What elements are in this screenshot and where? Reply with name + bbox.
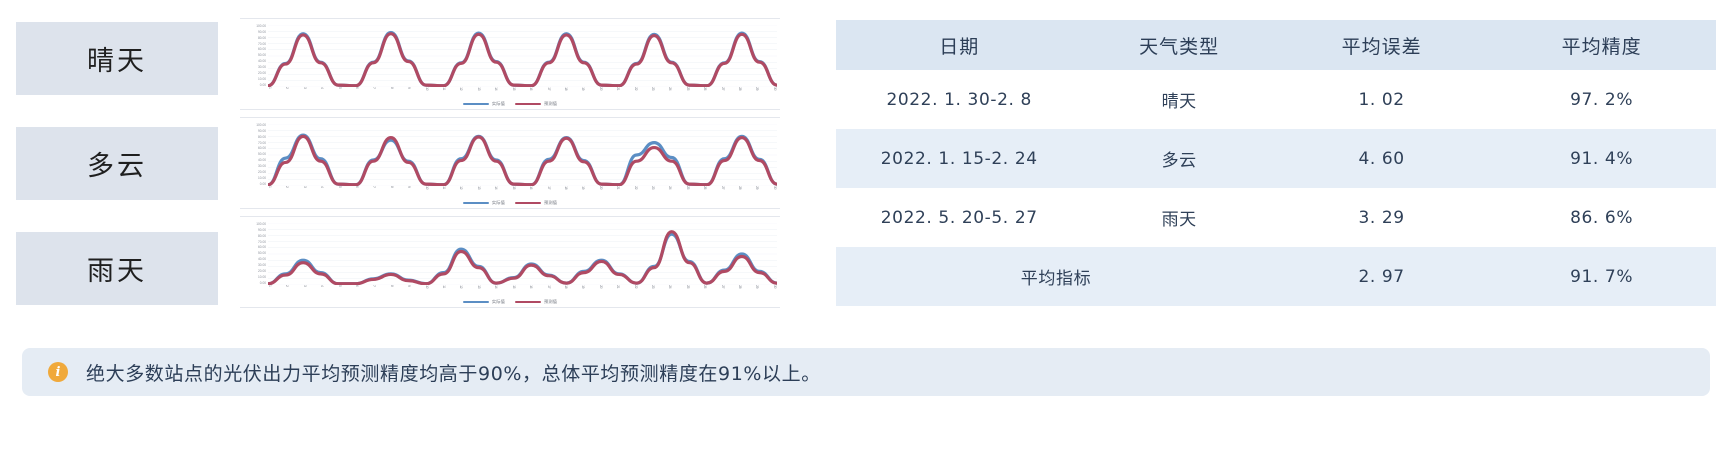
x-axis-tick-label: 21 (616, 285, 620, 288)
x-axis-tick-label: 5 (338, 186, 342, 188)
weather-chip-cloudy[interactable]: 多云 (16, 127, 218, 200)
x-axis-tick-label: 16 (529, 285, 533, 288)
x-axis-tick-label: 29 (755, 186, 759, 189)
legend-item-forecast: 预测值 (515, 299, 557, 305)
legend-item-actual: 实际值 (463, 299, 505, 305)
report-panel: 晴天 多云 雨天 100.0090.0080.0070.0060.0050.00… (0, 0, 1731, 463)
y-axis-tick-label: 90.00 (258, 31, 266, 34)
x-axis-tick-label: 14 (494, 186, 498, 189)
info-note-text: 绝大多数站点的光伏出力平均预测精度均高于90%，总体平均预测精度在91%以上。 (86, 359, 821, 386)
x-axis-tick-label: 5 (338, 285, 342, 287)
x-axis-tick-label: 8 (390, 87, 394, 89)
x-axis-tick-label: 18 (564, 186, 568, 189)
info-icon: i (48, 362, 68, 382)
x-axis-tick-label: 25 (686, 285, 690, 288)
x-axis-tick-label: 19 (581, 285, 585, 288)
x-axis-tick-label: 25 (686, 87, 690, 90)
weather-chip-label: 雨天 (87, 249, 147, 288)
x-axis-tick-label: 15 (512, 87, 516, 90)
x-axis-tick-label: 28 (738, 87, 742, 90)
x-axis-tick-label: 24 (668, 87, 672, 90)
table-row[interactable]: 2022. 5. 20-5. 27 雨天 3. 29 86. 6% (836, 188, 1716, 247)
y-axis-tick-label: 30.00 (258, 165, 266, 168)
y-axis-tick-label: 60.00 (258, 48, 266, 51)
x-axis-tick-label: 9 (407, 285, 411, 287)
x-axis-tick-label: 1 (268, 285, 272, 287)
x-axis-tick-label: 26 (703, 186, 707, 189)
x-axis-tick-label: 7 (373, 87, 377, 89)
cloudy-chart[interactable]: 100.0090.0080.0070.0060.0050.0040.0030.0… (240, 117, 780, 209)
x-axis-tick-label: 2 (286, 285, 290, 287)
x-axis-tick-label: 19 (581, 186, 585, 189)
x-axis-tick-label: 19 (581, 87, 585, 90)
legend-item-forecast: 预测值 (515, 200, 557, 206)
x-axis-tick-label: 18 (564, 87, 568, 90)
cell-type: 晴天 (1082, 70, 1276, 129)
x-axis-tick-label: 12 (460, 87, 464, 90)
cell-accuracy: 97. 2% (1487, 70, 1716, 129)
x-axis-tick-label: 17 (547, 87, 551, 90)
x-axis-tick-label: 15 (512, 186, 516, 189)
y-axis-tick-label: 50.00 (258, 54, 266, 57)
y-axis-tick-label: 20.00 (258, 270, 266, 273)
x-axis-tick-label: 16 (529, 186, 533, 189)
x-axis-tick-label: 27 (721, 87, 725, 90)
x-axis-tick-label: 6 (355, 186, 359, 188)
cell-accuracy: 91. 4% (1487, 129, 1716, 188)
x-axis-tick-label: 23 (651, 285, 655, 288)
column-header-type[interactable]: 天气类型 (1082, 20, 1276, 70)
cell-accuracy: 86. 6% (1487, 188, 1716, 247)
y-axis-tick-label: 10.00 (258, 78, 266, 81)
metrics-table: 日期 天气类型 平均误差 平均精度 2022. 1. 30-2. 8 晴天 1.… (836, 20, 1716, 306)
y-axis-tick-label: 30.00 (258, 66, 266, 69)
x-axis-tick-label: 14 (494, 87, 498, 90)
chart-plot-area (268, 223, 777, 285)
x-axis-tick-label: 23 (651, 186, 655, 189)
x-axis-tick-label: 28 (738, 285, 742, 288)
x-axis-tick-label: 13 (477, 186, 481, 189)
x-axis-tick-label: 4 (320, 87, 324, 89)
x-axis-tick-label: 13 (477, 87, 481, 90)
rainy-chart[interactable]: 100.0090.0080.0070.0060.0050.0040.0030.0… (240, 216, 780, 308)
cell-error: 3. 29 (1276, 188, 1487, 247)
y-axis-tick-label: 60.00 (258, 246, 266, 249)
x-axis-tick-label: 10 (425, 285, 429, 288)
y-axis-tick-label: 50.00 (258, 252, 266, 255)
y-axis-tick-label: 40.00 (258, 159, 266, 162)
column-header-accuracy[interactable]: 平均精度 (1487, 20, 1716, 70)
x-axis-tick-label: 29 (755, 87, 759, 90)
legend-label-forecast: 预测值 (544, 200, 557, 206)
y-axis-tick-label: 80.00 (258, 37, 266, 40)
cell-date: 2022. 5. 20-5. 27 (836, 188, 1082, 247)
x-axis-tick-label: 20 (599, 87, 603, 90)
x-axis-ticks: 1234567891011121314151617181920212223242… (268, 285, 777, 295)
legend-swatch-forecast (515, 301, 541, 304)
series-line (268, 34, 777, 86)
x-axis-tick-label: 17 (547, 285, 551, 288)
x-axis-tick-label: 1 (268, 186, 272, 188)
weather-chip-sunny[interactable]: 晴天 (16, 22, 218, 95)
y-axis-tick-label: 20.00 (258, 72, 266, 75)
y-axis-ticks: 100.0090.0080.0070.0060.0050.0040.0030.0… (244, 223, 266, 285)
x-axis-tick-label: 11 (442, 186, 446, 189)
x-axis-tick-label: 9 (407, 87, 411, 89)
x-axis-tick-label: 10 (425, 186, 429, 189)
charts-column: 100.0090.0080.0070.0060.0050.0040.0030.0… (240, 18, 780, 305)
y-axis-ticks: 100.0090.0080.0070.0060.0050.0040.0030.0… (244, 25, 266, 87)
cell-error: 2. 97 (1276, 247, 1487, 306)
y-axis-tick-label: 70.00 (258, 142, 266, 145)
x-axis-tick-label: 27 (721, 285, 725, 288)
series-line (268, 232, 777, 284)
y-axis-tick-label: 40.00 (258, 258, 266, 261)
x-axis-tick-label: 29 (755, 285, 759, 288)
x-axis-tick-label: 16 (529, 87, 533, 90)
x-axis-tick-label: 7 (373, 186, 377, 188)
x-axis-tick-label: 24 (668, 285, 672, 288)
x-axis-tick-label: 22 (634, 87, 638, 90)
x-axis-tick-label: 12 (460, 285, 464, 288)
chart-legend: 实际值 预测值 (240, 198, 780, 208)
y-axis-tick-label: 10.00 (258, 276, 266, 279)
x-axis-tick-label: 3 (303, 186, 307, 188)
y-axis-tick-label: 80.00 (258, 136, 266, 139)
legend-swatch-actual (463, 103, 489, 106)
x-axis-tick-label: 2 (286, 186, 290, 188)
series-line (268, 32, 777, 85)
cell-type: 雨天 (1082, 188, 1276, 247)
x-axis-tick-label: 15 (512, 285, 516, 288)
x-axis-tick-label: 3 (303, 87, 307, 89)
cell-type: 多云 (1082, 129, 1276, 188)
info-note-bar: i 绝大多数站点的光伏出力平均预测精度均高于90%，总体平均预测精度在91%以上… (22, 348, 1710, 396)
y-axis-tick-label: 0.00 (260, 84, 266, 87)
y-axis-ticks: 100.0090.0080.0070.0060.0050.0040.0030.0… (244, 124, 266, 186)
x-axis-tick-label: 13 (477, 285, 481, 288)
y-axis-tick-label: 70.00 (258, 43, 266, 46)
y-axis-tick-label: 20.00 (258, 171, 266, 174)
y-axis-tick-label: 30.00 (258, 264, 266, 267)
x-axis-tick-label: 30 (773, 87, 777, 90)
y-axis-tick-label: 100.00 (256, 223, 266, 226)
x-axis-tick-label: 11 (442, 285, 446, 288)
x-axis-tick-label: 3 (303, 285, 307, 287)
x-axis-ticks: 1234567891011121314151617181920212223242… (268, 186, 777, 196)
x-axis-tick-label: 12 (460, 186, 464, 189)
x-axis-tick-label: 26 (703, 87, 707, 90)
x-axis-tick-label: 8 (390, 186, 394, 188)
y-axis-tick-label: 90.00 (258, 229, 266, 232)
legend-swatch-actual (463, 301, 489, 304)
x-axis-tick-label: 21 (616, 186, 620, 189)
y-axis-tick-label: 100.00 (256, 25, 266, 28)
y-axis-tick-label: 60.00 (258, 147, 266, 150)
x-axis-tick-label: 11 (442, 87, 446, 90)
x-axis-tick-label: 26 (703, 285, 707, 288)
legend-label-forecast: 预测值 (544, 101, 557, 107)
x-axis-tick-label: 5 (338, 87, 342, 89)
x-axis-tick-label: 6 (355, 285, 359, 287)
x-axis-tick-label: 4 (320, 285, 324, 287)
x-axis-tick-label: 30 (773, 186, 777, 189)
weather-category-list: 晴天 多云 雨天 (16, 22, 218, 305)
x-axis-tick-label: 8 (390, 285, 394, 287)
y-axis-tick-label: 40.00 (258, 60, 266, 63)
metrics-table-wrapper: 日期 天气类型 平均误差 平均精度 2022. 1. 30-2. 8 晴天 1.… (836, 20, 1716, 306)
legend-swatch-actual (463, 202, 489, 205)
x-axis-tick-label: 17 (547, 186, 551, 189)
y-axis-tick-label: 0.00 (260, 282, 266, 285)
y-axis-tick-label: 90.00 (258, 130, 266, 133)
cell-error: 1. 02 (1276, 70, 1487, 129)
series-line (268, 136, 777, 184)
cell-summary-label: 平均指标 (836, 247, 1276, 306)
column-header-error[interactable]: 平均误差 (1276, 20, 1487, 70)
y-axis-tick-label: 70.00 (258, 241, 266, 244)
x-axis-tick-label: 20 (599, 285, 603, 288)
legend-item-actual: 实际值 (463, 101, 505, 107)
table-row[interactable]: 2022. 1. 30-2. 8 晴天 1. 02 97. 2% (836, 70, 1716, 129)
weather-chip-rainy[interactable]: 雨天 (16, 232, 218, 305)
x-axis-tick-label: 22 (634, 285, 638, 288)
x-axis-tick-label: 20 (599, 186, 603, 189)
table-header-row: 日期 天气类型 平均误差 平均精度 (836, 20, 1716, 70)
cell-error: 4. 60 (1276, 129, 1487, 188)
legend-swatch-forecast (515, 202, 541, 205)
y-axis-tick-label: 80.00 (258, 235, 266, 238)
table-row-summary[interactable]: 平均指标 2. 97 91. 7% (836, 247, 1716, 306)
y-axis-tick-label: 50.00 (258, 153, 266, 156)
x-axis-tick-label: 21 (616, 87, 620, 90)
x-axis-tick-label: 27 (721, 186, 725, 189)
x-axis-tick-label: 25 (686, 186, 690, 189)
weather-chip-label: 多云 (87, 144, 147, 183)
metrics-table-body: 2022. 1. 30-2. 8 晴天 1. 02 97. 2% 2022. 1… (836, 70, 1716, 306)
cell-date: 2022. 1. 30-2. 8 (836, 70, 1082, 129)
x-axis-tick-label: 4 (320, 186, 324, 188)
x-axis-tick-label: 28 (738, 186, 742, 189)
chart-legend: 实际值 预测值 (240, 99, 780, 109)
chart-plot-area (268, 25, 777, 87)
legend-label-forecast: 预测值 (544, 299, 557, 305)
x-axis-tick-label: 24 (668, 186, 672, 189)
cell-accuracy: 91. 7% (1487, 247, 1716, 306)
x-axis-tick-label: 23 (651, 87, 655, 90)
x-axis-tick-label: 2 (286, 87, 290, 89)
x-axis-tick-label: 30 (773, 285, 777, 288)
table-row[interactable]: 2022. 1. 15-2. 24 多云 4. 60 91. 4% (836, 129, 1716, 188)
x-axis-tick-label: 22 (634, 186, 638, 189)
x-axis-ticks: 1234567891011121314151617181920212223242… (268, 87, 777, 97)
x-axis-tick-label: 9 (407, 186, 411, 188)
x-axis-tick-label: 1 (268, 87, 272, 89)
legend-swatch-forecast (515, 103, 541, 106)
legend-item-actual: 实际值 (463, 200, 505, 206)
y-axis-tick-label: 100.00 (256, 124, 266, 127)
weather-chip-label: 晴天 (87, 39, 147, 78)
y-axis-tick-label: 0.00 (260, 183, 266, 186)
cell-date: 2022. 1. 15-2. 24 (836, 129, 1082, 188)
legend-label-actual: 实际值 (492, 200, 505, 206)
x-axis-tick-label: 7 (373, 285, 377, 287)
legend-label-actual: 实际值 (492, 299, 505, 305)
legend-label-actual: 实际值 (492, 101, 505, 107)
x-axis-tick-label: 6 (355, 87, 359, 89)
y-axis-tick-label: 10.00 (258, 177, 266, 180)
sunny-chart[interactable]: 100.0090.0080.0070.0060.0050.0040.0030.0… (240, 18, 780, 110)
legend-item-forecast: 预测值 (515, 101, 557, 107)
x-axis-tick-label: 14 (494, 285, 498, 288)
x-axis-tick-label: 10 (425, 87, 429, 90)
chart-plot-area (268, 124, 777, 186)
chart-legend: 实际值 预测值 (240, 297, 780, 307)
column-header-date[interactable]: 日期 (836, 20, 1082, 70)
x-axis-tick-label: 18 (564, 285, 568, 288)
